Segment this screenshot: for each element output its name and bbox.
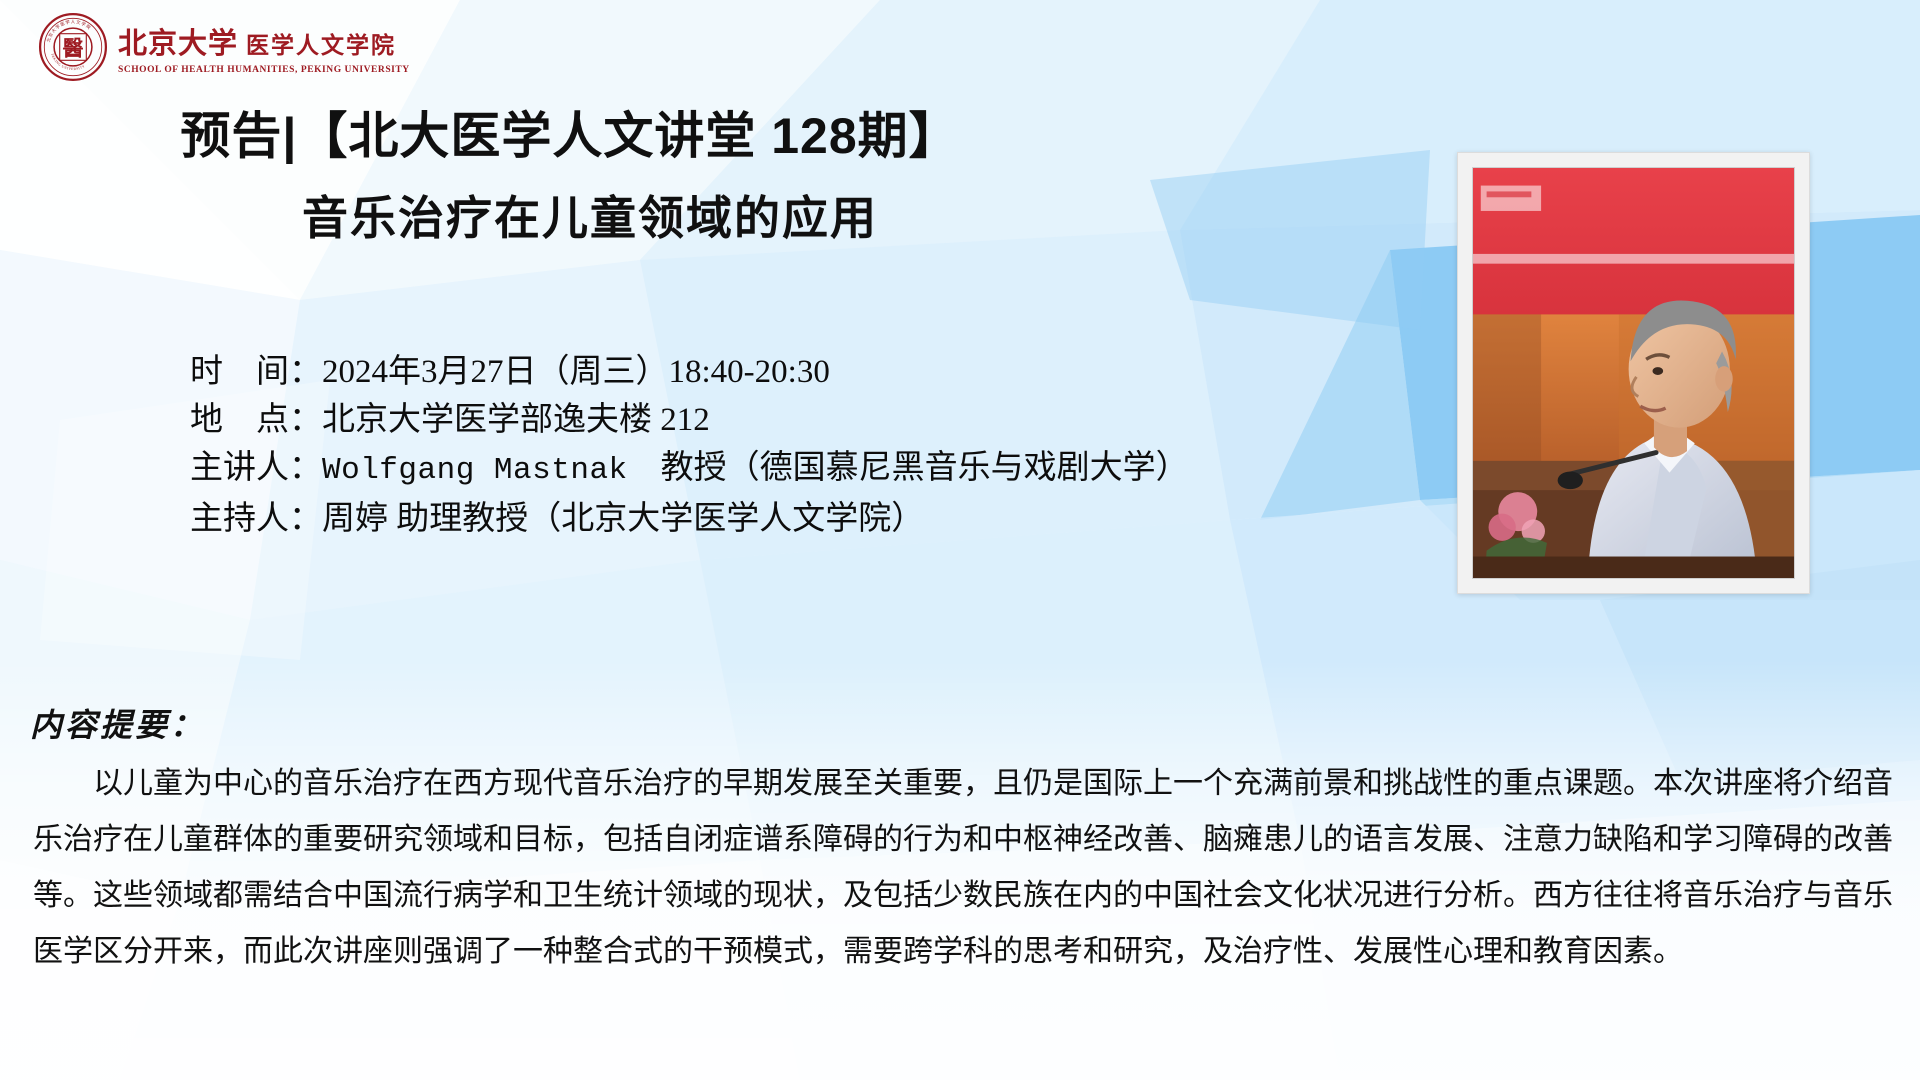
poster-title-line-2: 音乐治疗在儿童领域的应用: [0, 182, 1180, 248]
event-speaker-name: Wolfgang Mastnak: [322, 453, 628, 488]
svg-text:醫: 醫: [63, 36, 84, 60]
speaker-photo-image: [1473, 168, 1794, 578]
logo-wordmark: 北京大学 医学人文学院 SCHOOL OF HEALTH HUMANITIES,…: [118, 20, 410, 75]
abstract-label: 内容提要：: [30, 700, 205, 746]
event-host-row: 主持人：周婷 助理教授（北京大学医学人文学院）: [190, 495, 1189, 543]
event-speaker-label: 主讲人：: [190, 450, 322, 486]
event-place-value: 北京大学医学部逸夫楼 212: [322, 402, 710, 438]
event-host-label: 主持人：: [190, 501, 322, 537]
logo-university-name: 北京大学: [118, 20, 238, 62]
event-speaker-title: 教授（德国慕尼黑音乐与戏剧大学）: [628, 450, 1189, 486]
event-speaker-row: 主讲人：Wolfgang Mastnak 教授（德国慕尼黑音乐与戏剧大学）: [190, 444, 1189, 495]
speaker-photo-frame: [1457, 152, 1810, 594]
event-details: 时 间：2024年3月27日（周三）18:40-20:30 地 点：北京大学医学…: [190, 348, 1189, 543]
logo-chinese-name: 北京大学 医学人文学院: [118, 20, 410, 62]
peking-university-seal-icon: 醫 北京大学医学人文学院 PEKING UNIVERSITY: [38, 12, 108, 82]
lecture-poster: 醫 北京大学医学人文学院 PEKING UNIVERSITY 北京大学 医学人文…: [0, 0, 1920, 1080]
event-time-label: 时 间：: [190, 354, 322, 390]
abstract-body: 以儿童为中心的音乐治疗在西方现代音乐治疗的早期发展至关重要，且仍是国际上一个充满…: [33, 756, 1893, 980]
event-place-label: 地 点：: [190, 402, 322, 438]
logo-english-name: SCHOOL OF HEALTH HUMANITIES, PEKING UNIV…: [118, 65, 410, 75]
event-host-value: 周婷 助理教授（北京大学医学人文学院）: [322, 501, 924, 537]
logo-school-name: 医学人文学院: [246, 26, 396, 60]
speaker-photo: [1472, 167, 1795, 579]
university-logo: 醫 北京大学医学人文学院 PEKING UNIVERSITY 北京大学 医学人文…: [38, 12, 410, 82]
event-place-row: 地 点：北京大学医学部逸夫楼 212: [190, 396, 1189, 444]
event-time-row: 时 间：2024年3月27日（周三）18:40-20:30: [190, 348, 1189, 396]
poster-title-line-1: 预告|【北大医学人文讲堂 128期】: [0, 96, 1140, 168]
event-time-value: 2024年3月27日（周三）18:40-20:30: [322, 354, 830, 390]
